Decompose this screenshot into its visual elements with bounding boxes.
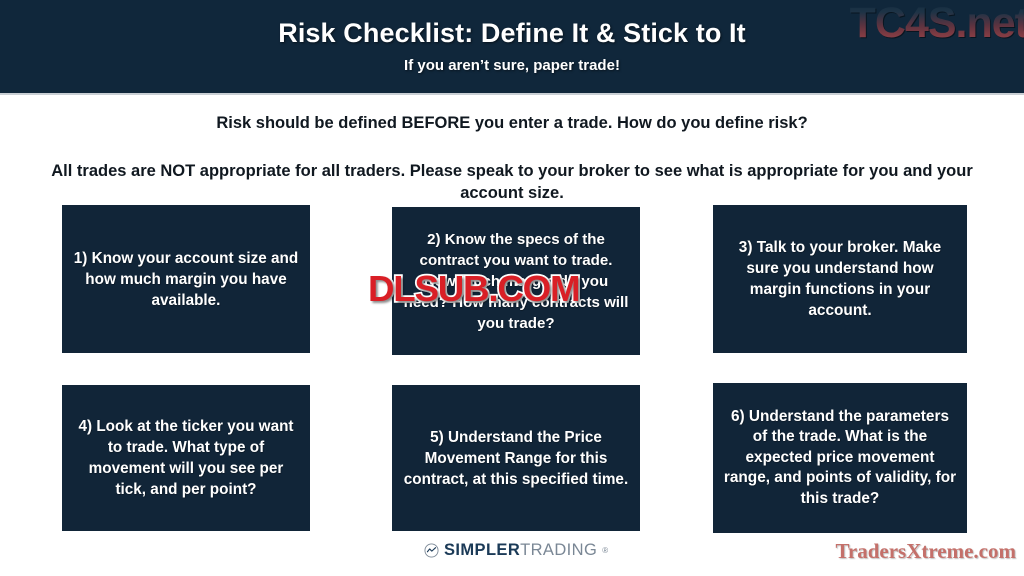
checklist-card-5: 5) Understand the Price Movement Range f… — [392, 385, 640, 531]
header-divider — [0, 93, 1024, 95]
dlsub-watermark: DLSUB.COM — [368, 268, 579, 310]
tc4s-watermark: TC4S.net — [850, 0, 1024, 48]
checklist-card-5-text: 5) Understand the Price Movement Range f… — [402, 427, 630, 490]
page-subtitle: If you aren’t sure, paper trade! — [0, 57, 1024, 74]
logo-registered-mark: ® — [602, 546, 608, 555]
chart-line-circle-icon — [424, 543, 439, 558]
checklist-card-4-text: 4) Look at the ticker you want to trade.… — [72, 416, 300, 500]
logo-text-simpler: SIMPLER — [444, 541, 520, 560]
checklist-card-3: 3) Talk to your broker. Make sure you un… — [713, 205, 967, 353]
checklist-card-6: 6) Understand the parameters of the trad… — [713, 383, 967, 533]
tradersxtreme-watermark: TradersXtreme.com — [835, 539, 1016, 564]
simpler-trading-logo: SIMPLER TRADING ® — [424, 541, 608, 560]
checklist-card-6-text: 6) Understand the parameters of the trad… — [723, 407, 957, 510]
checklist-card-1-text: 1) Know your account size and how much m… — [72, 248, 300, 311]
logo-text-trading: TRADING — [520, 541, 597, 560]
checklist-card-3-text: 3) Talk to your broker. Make sure you un… — [723, 237, 957, 321]
intro-question-text: Risk should be defined BEFORE you enter … — [0, 114, 1024, 133]
checklist-card-1: 1) Know your account size and how much m… — [62, 205, 310, 353]
intro-disclaimer-text: All trades are NOT appropriate for all t… — [34, 160, 990, 204]
checklist-card-4: 4) Look at the ticker you want to trade.… — [62, 385, 310, 531]
header-band: Risk Checklist: Define It & Stick to It … — [0, 0, 1024, 93]
